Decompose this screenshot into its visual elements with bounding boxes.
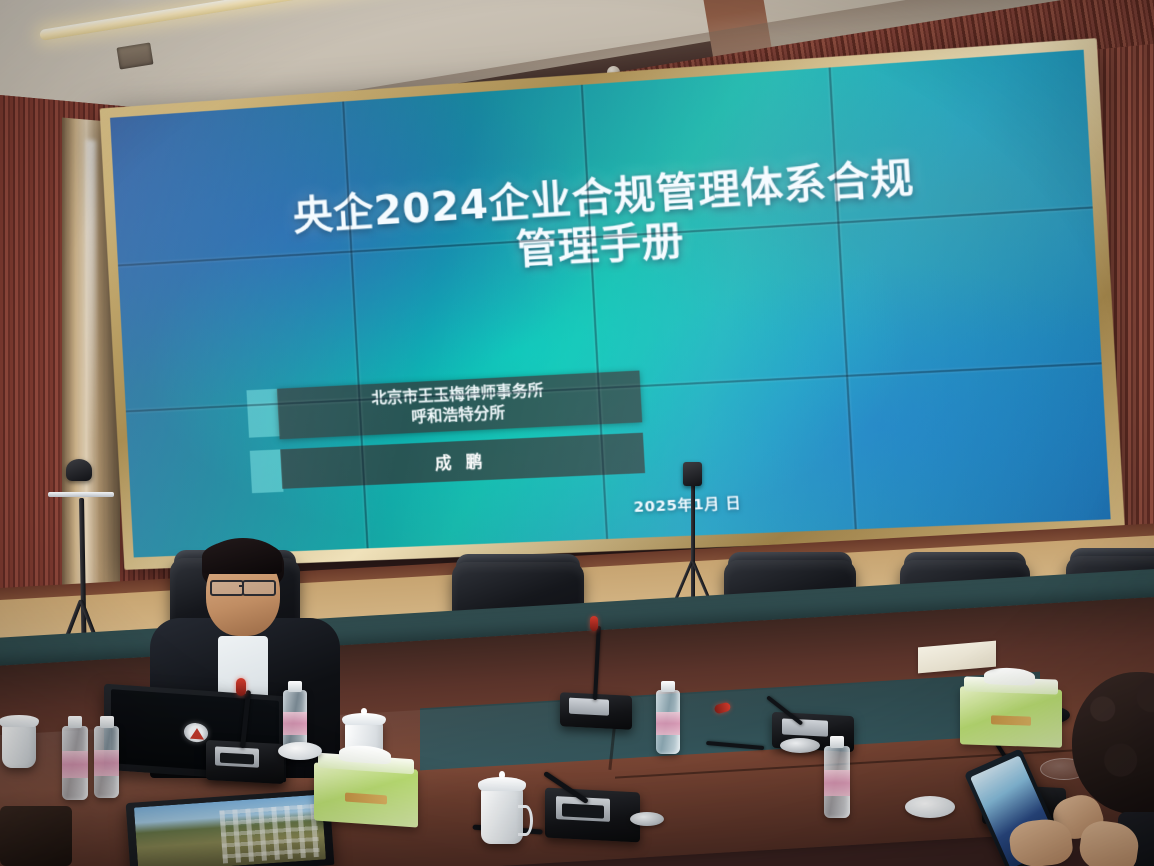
bottle-cap [830, 736, 845, 748]
presentation-slide: 央企2024企业合规管理体系合规 管理手册 北京市王玉梅律师事务所 呼和浩特分所… [110, 50, 1111, 558]
bottle-label [824, 770, 850, 796]
tissue-box-logo-icon [991, 715, 1032, 726]
teacup-2[interactable] [481, 788, 523, 844]
water-bottle-5[interactable] [824, 746, 850, 818]
coaster-1 [905, 796, 955, 818]
water-bottle-2[interactable] [94, 726, 119, 798]
table-edge-shadow [0, 806, 72, 866]
laptop-screen-desktop[interactable] [134, 794, 326, 866]
bottle-cap [100, 716, 114, 728]
water-bottle-4[interactable] [656, 690, 680, 754]
microphone-panel [782, 718, 828, 737]
microphone-base[interactable] [545, 788, 640, 843]
presenter-accent-tab [250, 449, 284, 493]
bottle-cap [661, 681, 674, 692]
tissue-box-1[interactable] [314, 762, 418, 827]
teacup-handle [518, 805, 533, 836]
microphone-capsule-icon [590, 616, 598, 631]
microphone-speaker-disc [630, 812, 664, 826]
laptop-foreground[interactable] [126, 789, 335, 866]
bottle-label [94, 750, 119, 776]
tissue-box-logo-icon [345, 792, 387, 804]
slide-date: 2025年1月 日 [633, 492, 742, 517]
water-bottle-1[interactable] [62, 726, 88, 800]
presenter-name-box: 成 鹏 [281, 432, 646, 488]
camera-icon [66, 459, 92, 481]
coaster-3 [278, 742, 322, 760]
tripod-mount-bar [48, 492, 114, 497]
camera-icon [683, 462, 702, 486]
person-hair-top [202, 540, 282, 574]
bottle-cap [288, 681, 301, 692]
bottle-cap [68, 716, 83, 729]
org-accent-tab [247, 389, 281, 437]
conference-room-scene: 央企2024企业合规管理体系合规 管理手册 北京市王玉梅律师事务所 呼和浩特分所… [0, 0, 1154, 866]
microphone-capsule-icon [236, 678, 246, 696]
teacup-lid [0, 715, 39, 726]
eyeglasses-icon [210, 580, 244, 596]
eyeglasses-icon [242, 580, 276, 596]
bottle-label [62, 751, 88, 778]
microphone-panel [569, 698, 609, 716]
teacup-3[interactable] [2, 724, 36, 768]
slide-title: 央企2024企业合规管理体系合规 管理手册 [170, 146, 1053, 294]
microphone-speaker-disc [780, 738, 820, 753]
video-wall-frame: 央企2024企业合规管理体系合规 管理手册 北京市王玉梅律师事务所 呼和浩特分所… [100, 38, 1125, 570]
bottle-label [656, 712, 680, 735]
bottle-label [283, 712, 307, 735]
brass-pillar-highlight [86, 140, 96, 441]
desktop-icon-grid[interactable] [219, 804, 320, 864]
microphone-display [562, 803, 604, 818]
tissue-sheet-icon [984, 667, 1035, 685]
video-wall-display[interactable]: 央企2024企业合规管理体系合规 管理手册 北京市王玉梅律师事务所 呼和浩特分所… [110, 50, 1111, 558]
person-curly-hair [1072, 672, 1154, 814]
organization-box: 北京市王玉梅律师事务所 呼和浩特分所 [277, 371, 642, 439]
teacup-knob [361, 708, 367, 714]
eyeglasses-bridge [239, 585, 244, 587]
